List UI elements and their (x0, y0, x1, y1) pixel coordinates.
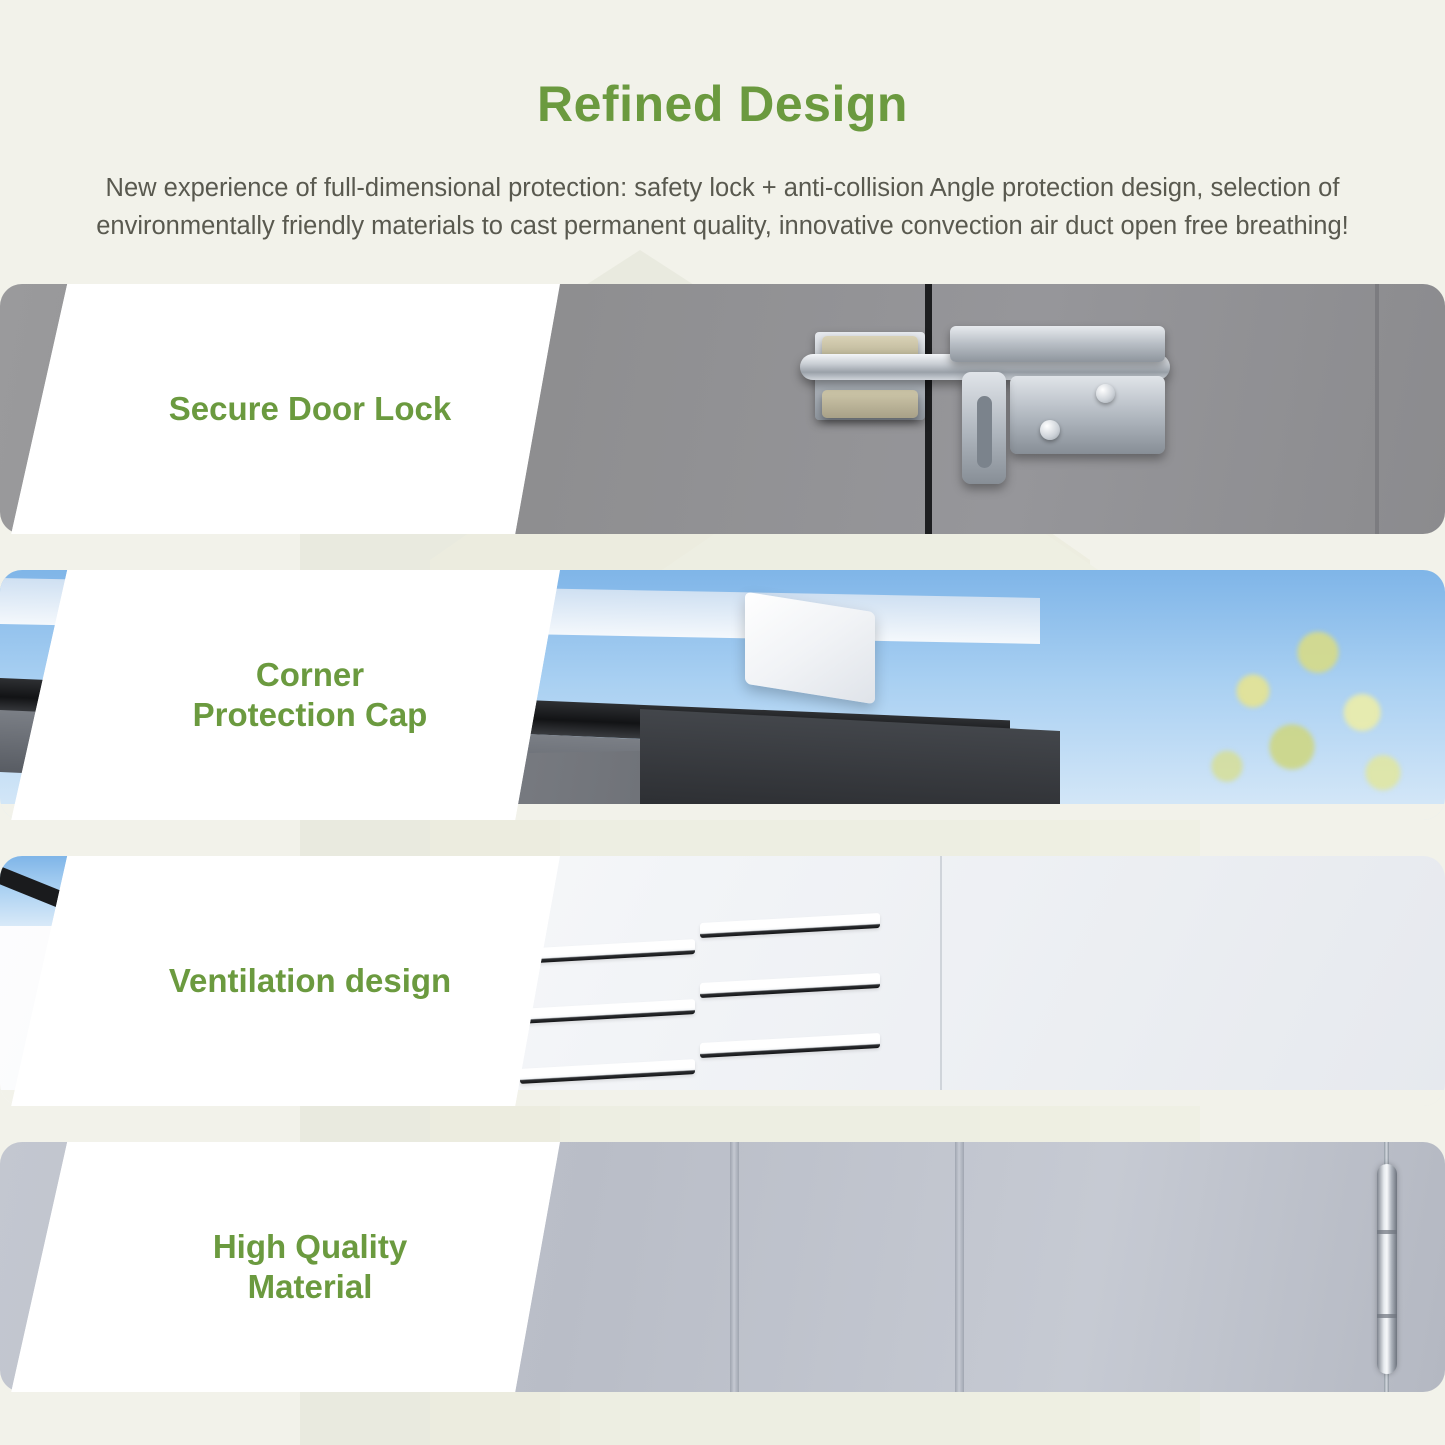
page-subtitle: New experience of full-dimensional prote… (58, 169, 1388, 247)
wall-panel-seam (940, 856, 942, 1106)
screw-upper (1096, 384, 1115, 403)
tree-foliage (1175, 605, 1435, 820)
screw-lower (1040, 420, 1060, 440)
header: Refined Design New experience of full-di… (0, 0, 1445, 246)
door-seam-right (1375, 284, 1379, 534)
feature-card-2[interactable]: Corner Protection Cap (0, 570, 560, 820)
feature-row-high-quality-material: High Quality Material (0, 1142, 1445, 1392)
feature-label-4: High Quality Material (0, 1227, 560, 1308)
page-title: Refined Design (0, 78, 1445, 131)
feature-label-1: Secure Door Lock (0, 389, 560, 429)
panel-seam-3 (730, 1142, 739, 1392)
feature-label-2: Corner Protection Cap (0, 655, 560, 736)
hasp-plate (1010, 376, 1165, 454)
feature-row-corner-protection-cap: Corner Protection Cap (0, 570, 1445, 820)
feature-card-3[interactable]: Ventilation design (0, 856, 560, 1106)
panel-seam-4 (955, 1142, 964, 1392)
feature-card-1[interactable]: Secure Door Lock (0, 284, 560, 534)
feature-card-4[interactable]: High Quality Material (0, 1142, 560, 1392)
door-hinge-pin (1377, 1164, 1397, 1374)
door-center-gap (925, 284, 932, 534)
hinge-segment-upper (1377, 1230, 1397, 1234)
hinge-segment-lower (1377, 1314, 1397, 1318)
bolt-barrel (950, 326, 1165, 362)
feature-list: Secure Door Lock Corner Protection Cap (0, 284, 1445, 1392)
feature-row-secure-door-lock: Secure Door Lock (0, 284, 1445, 534)
feature-label-3: Ventilation design (0, 961, 560, 1001)
feature-row-ventilation-design: Ventilation design (0, 856, 1445, 1106)
bolt-knob-bottom (822, 390, 918, 418)
hasp-slot (977, 396, 992, 468)
